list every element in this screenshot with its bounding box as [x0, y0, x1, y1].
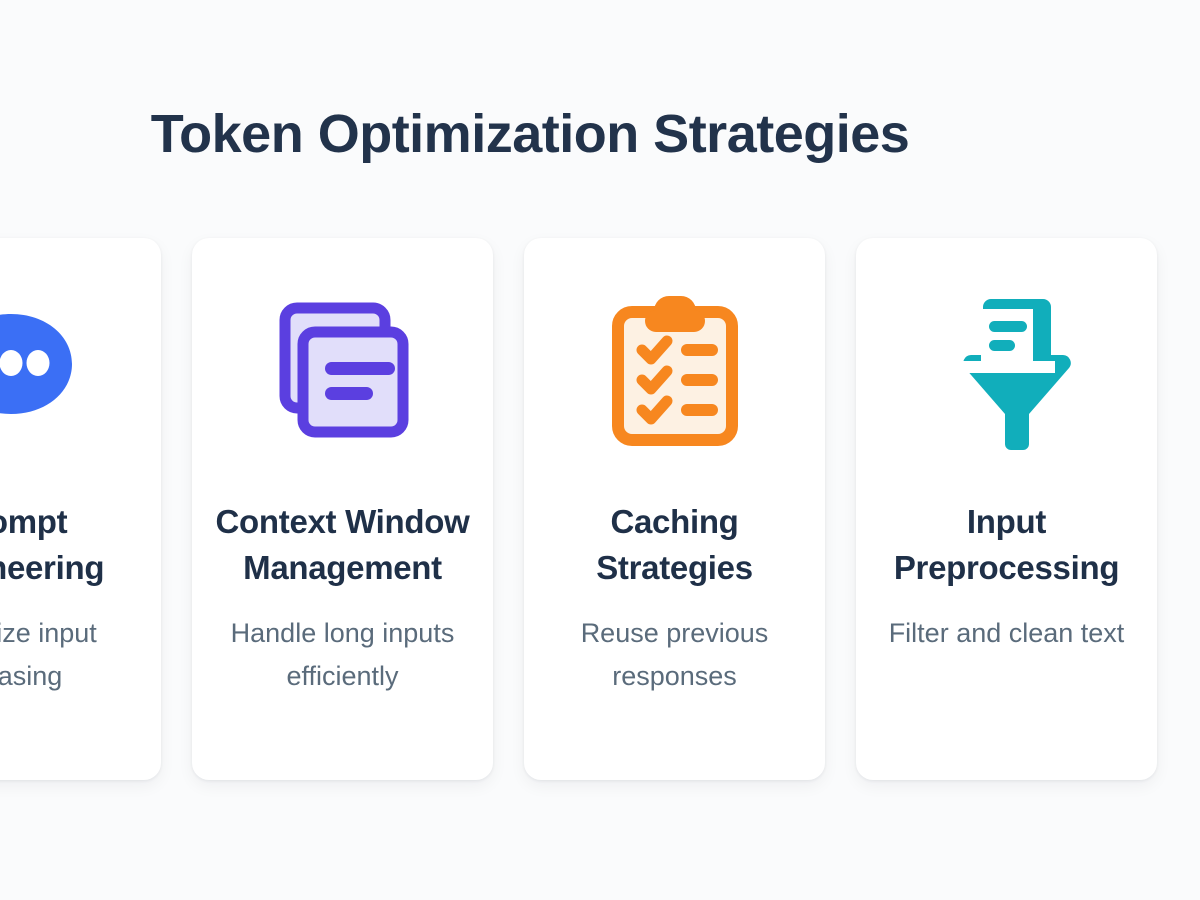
- card-title: Caching Strategies: [542, 499, 807, 590]
- strategy-card-input-preprocessing[interactable]: Input Preprocessing Filter and clean tex…: [856, 238, 1157, 780]
- card-title: Input Preprocessing: [874, 499, 1139, 590]
- infographic-page: Token Optimization Strategies Prompt Eng…: [0, 0, 1200, 900]
- card-title: Prompt Engineering: [0, 499, 143, 590]
- card-description: Handle long inputs efficiently: [210, 612, 475, 697]
- strategy-card-context-window-management[interactable]: Context Window Management Handle long in…: [192, 238, 493, 780]
- card-title: Context Window Management: [210, 499, 475, 590]
- clipboard-checklist-icon: [597, 285, 753, 457]
- strategy-card-caching-strategies[interactable]: Caching Strategies Reuse previous respon…: [524, 238, 825, 780]
- card-description: Filter and clean text: [874, 612, 1139, 655]
- document-window-icon: [265, 285, 421, 457]
- strategy-card-grid: Prompt Engineering Optimize input phrasi…: [0, 238, 1190, 780]
- strategy-card-prompt-engineering[interactable]: Prompt Engineering Optimize input phrasi…: [0, 238, 161, 780]
- page-title: Token Optimization Strategies: [0, 103, 1060, 165]
- chat-bubble-icon: [0, 285, 89, 457]
- funnel-document-icon: [929, 285, 1085, 457]
- card-description: Reuse previous responses: [542, 612, 807, 697]
- card-description: Optimize input phrasing: [0, 612, 143, 697]
